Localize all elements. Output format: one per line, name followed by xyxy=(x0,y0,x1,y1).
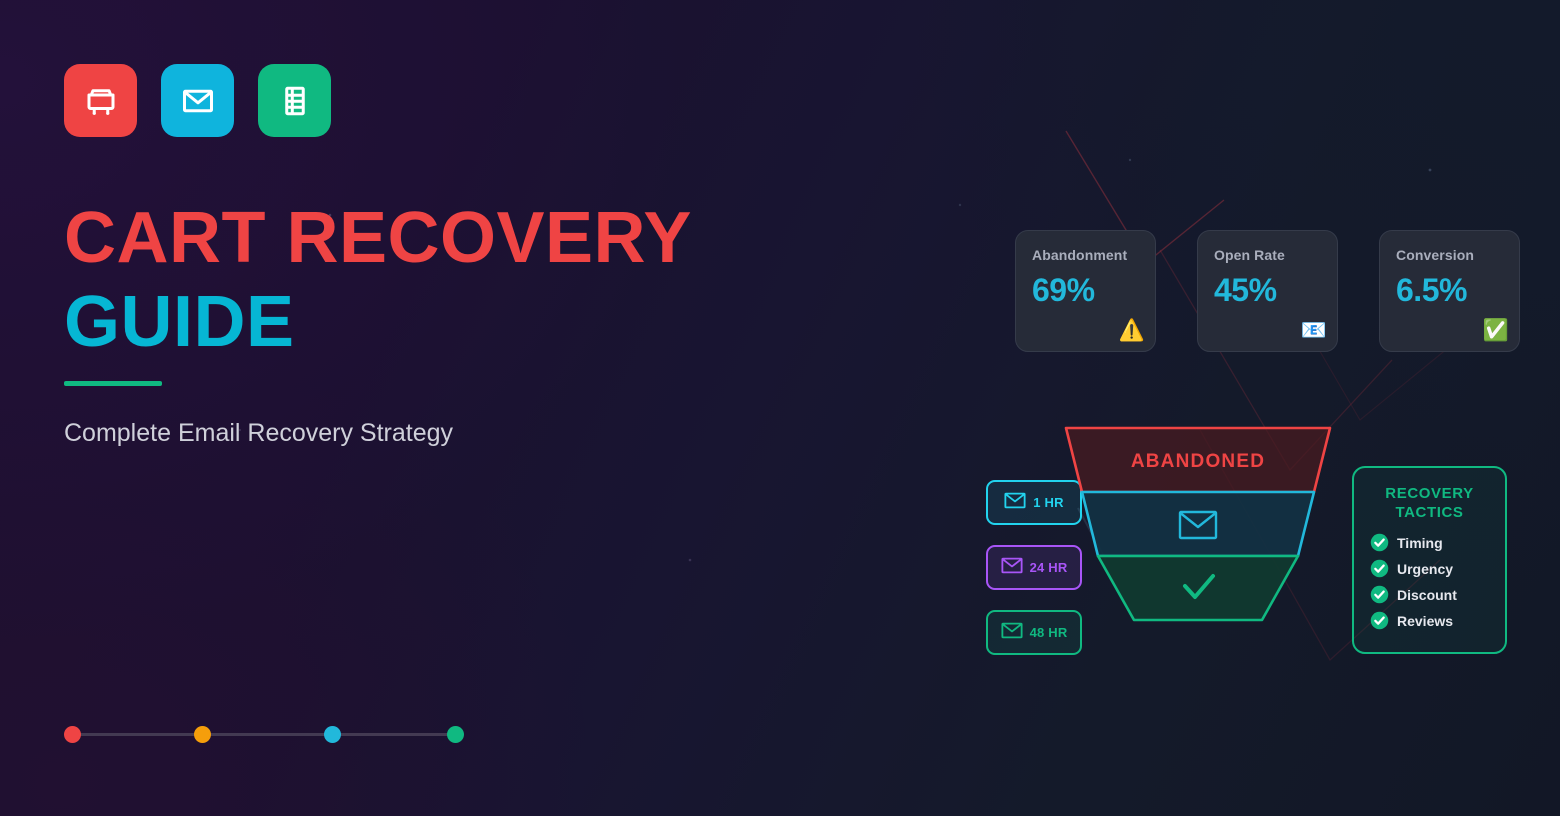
progress-dot-3[interactable] xyxy=(324,726,341,743)
progress-dot-1[interactable] xyxy=(64,726,81,743)
envelope-icon xyxy=(180,83,216,119)
page-title: CART RECOVERY GUIDE xyxy=(64,196,692,364)
list-receipt-tile[interactable] xyxy=(258,64,331,137)
stat-card-open-rate[interactable]: Open Rate 45% 📧 xyxy=(1197,230,1338,352)
check-circle-icon xyxy=(1370,533,1389,552)
page-title-line-1: CART RECOVERY xyxy=(64,196,692,280)
tactic-item-discount[interactable]: Discount xyxy=(1370,585,1505,604)
envelope-tile[interactable] xyxy=(161,64,234,137)
stat-card-conversion[interactable]: Conversion 6.5% ✅ xyxy=(1379,230,1520,352)
page-title-line-2: GUIDE xyxy=(64,280,692,364)
hero-left-column: CART RECOVERY GUIDE Complete Email Recov… xyxy=(64,0,824,816)
email-emoji: 📧 xyxy=(1301,320,1327,341)
title-accent-bar xyxy=(64,381,162,386)
envelope-icon xyxy=(1001,557,1023,579)
tactic-item-timing[interactable]: Timing xyxy=(1370,533,1505,552)
progress-track xyxy=(72,733,456,736)
tactic-label: Timing xyxy=(1397,535,1443,551)
progress-dot-4[interactable] xyxy=(447,726,464,743)
brand-icon-row xyxy=(64,64,331,137)
check-circle-icon xyxy=(1370,559,1389,578)
recovery-tactics-title: RECOVERY TACTICS xyxy=(1354,484,1505,522)
list-receipt-icon xyxy=(277,83,313,119)
tactic-label: Urgency xyxy=(1397,561,1453,577)
recovery-tactics-list: Timing Urgency Discoun xyxy=(1354,533,1505,630)
stat-card-abandonment[interactable]: Abandonment 69% ⚠️ xyxy=(1015,230,1156,352)
recovery-funnel: ABANDONED xyxy=(1058,420,1338,640)
stat-label: Conversion xyxy=(1396,247,1519,263)
progress-dot-2[interactable] xyxy=(194,726,211,743)
warning-emoji: ⚠️ xyxy=(1119,320,1145,341)
tactic-label: Reviews xyxy=(1397,613,1453,629)
check-mark-emoji: ✅ xyxy=(1483,320,1509,341)
stat-value: 45% xyxy=(1214,272,1337,309)
stat-value: 69% xyxy=(1032,272,1155,309)
envelope-icon xyxy=(1004,492,1026,514)
stat-label: Open Rate xyxy=(1214,247,1337,263)
recovery-tactics-title-line-1: RECOVERY xyxy=(1354,484,1505,503)
funnel-stage-recovered xyxy=(1098,556,1298,620)
stat-label: Abandonment xyxy=(1032,247,1155,263)
stat-card-row: Abandonment 69% ⚠️ Open Rate 45% 📧 Conve… xyxy=(1015,230,1520,352)
tactic-item-urgency[interactable]: Urgency xyxy=(1370,559,1505,578)
funnel-stage-label-abandoned: ABANDONED xyxy=(1058,451,1338,473)
hero-right-column: Abandonment 69% ⚠️ Open Rate 45% 📧 Conve… xyxy=(940,0,1560,816)
recovery-tactics-panel: RECOVERY TACTICS Timing xyxy=(1352,466,1507,654)
shopping-cart-icon xyxy=(83,83,119,119)
page-subtitle: Complete Email Recovery Strategy xyxy=(64,419,453,448)
tactic-item-reviews[interactable]: Reviews xyxy=(1370,611,1505,630)
funnel-stage-emailed xyxy=(1082,492,1314,556)
shopping-cart-tile[interactable] xyxy=(64,64,137,137)
check-circle-icon xyxy=(1370,585,1389,604)
progress-indicator xyxy=(64,718,464,752)
stat-value: 6.5% xyxy=(1396,272,1519,309)
envelope-icon xyxy=(1001,622,1023,644)
tactic-label: Discount xyxy=(1397,587,1457,603)
recovery-tactics-title-line-2: TACTICS xyxy=(1354,503,1505,522)
check-circle-icon xyxy=(1370,611,1389,630)
